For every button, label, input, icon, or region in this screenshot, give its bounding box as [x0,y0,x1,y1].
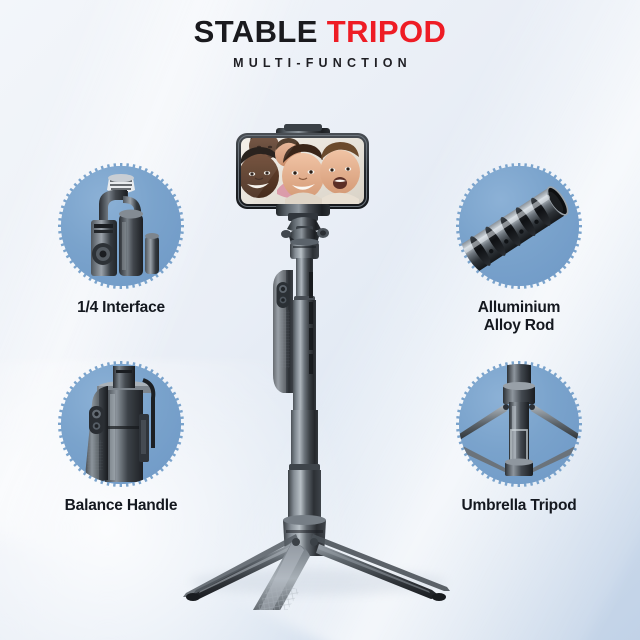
feature-circle-balance-handle [57,360,185,488]
selfie-person-3 [320,150,360,194]
phone-body [236,133,369,209]
balance-grip [86,386,108,482]
clamp-bottom-arm [276,204,330,216]
pole-section-4 [288,470,321,522]
shutter-button [279,285,287,293]
tripod-leg-rear-left [190,544,294,599]
mode-button [280,297,287,304]
balance-handle-icon [61,364,181,484]
product-ground-shadow [190,569,446,595]
page-subtitle: MULTI-FUNCTION [0,56,640,70]
clamp-top-arm [276,128,330,139]
feature-quarter-interface[interactable]: 1/4 Interface [28,162,214,317]
tripod-leg-front [217,542,310,610]
tripod-legs [183,534,450,610]
leg-hub [283,515,326,556]
phone-with-clamp [236,124,369,221]
feature-label-line-1: Alluminium [426,299,612,317]
feature-circle-alloy-rod [455,162,583,290]
umbrella-tripod-icon [459,364,579,484]
quarter-interface-icon [61,166,181,286]
feature-alluminium-alloy-rod[interactable]: Alluminium Alloy Rod [426,162,612,335]
feature-umbrella-tripod[interactable]: Umbrella Tripod [426,360,612,515]
pole-section-3 [291,410,318,468]
feature-label-alloy-rod: Alluminium Alloy Rod [426,299,612,335]
upper-collar [290,239,319,260]
title-word-stable: STABLE [194,14,318,49]
feature-circle-umbrella-tripod [455,360,583,488]
detachable-bluetooth-handle [273,270,293,393]
feature-label-balance-handle: Balance Handle [28,497,214,515]
feature-label-quarter-interface: 1/4 Interface [28,299,214,317]
feature-circle-fill [61,166,181,286]
selfie-person-1 [239,154,279,198]
feature-circle-quarter-interface [57,162,185,290]
tripod-leg-rear-right [316,544,441,599]
feature-circle-fill [459,166,579,286]
page-title: STABLE TRIPOD [0,16,640,49]
ball-head-joint [281,217,329,248]
feature-label-line-2: Alloy Rod [426,317,612,335]
title-word-tripod: TRIPOD [327,14,447,49]
pole-section-1 [296,258,313,298]
feature-balance-handle[interactable]: Balance Handle [28,360,214,515]
phone-screen-photo [239,130,364,206]
telescoping-rod [459,183,572,281]
feature-label-umbrella-tripod: Umbrella Tripod [426,497,612,515]
rod-rings [467,195,554,268]
mount-cylinder-small [145,236,159,274]
pole-section-2 [293,300,316,412]
infographic-page: STABLE TRIPOD MULTI-FUNCTION [0,0,640,640]
header: STABLE TRIPOD MULTI-FUNCTION [0,16,640,70]
shutter-button-panel [277,282,290,308]
feature-circle-fill [459,364,579,484]
feature-circle-fill [61,364,181,484]
pole-ridges [309,272,313,374]
alloy-rod-icon [459,166,579,286]
selfie-person-2 [282,153,324,199]
